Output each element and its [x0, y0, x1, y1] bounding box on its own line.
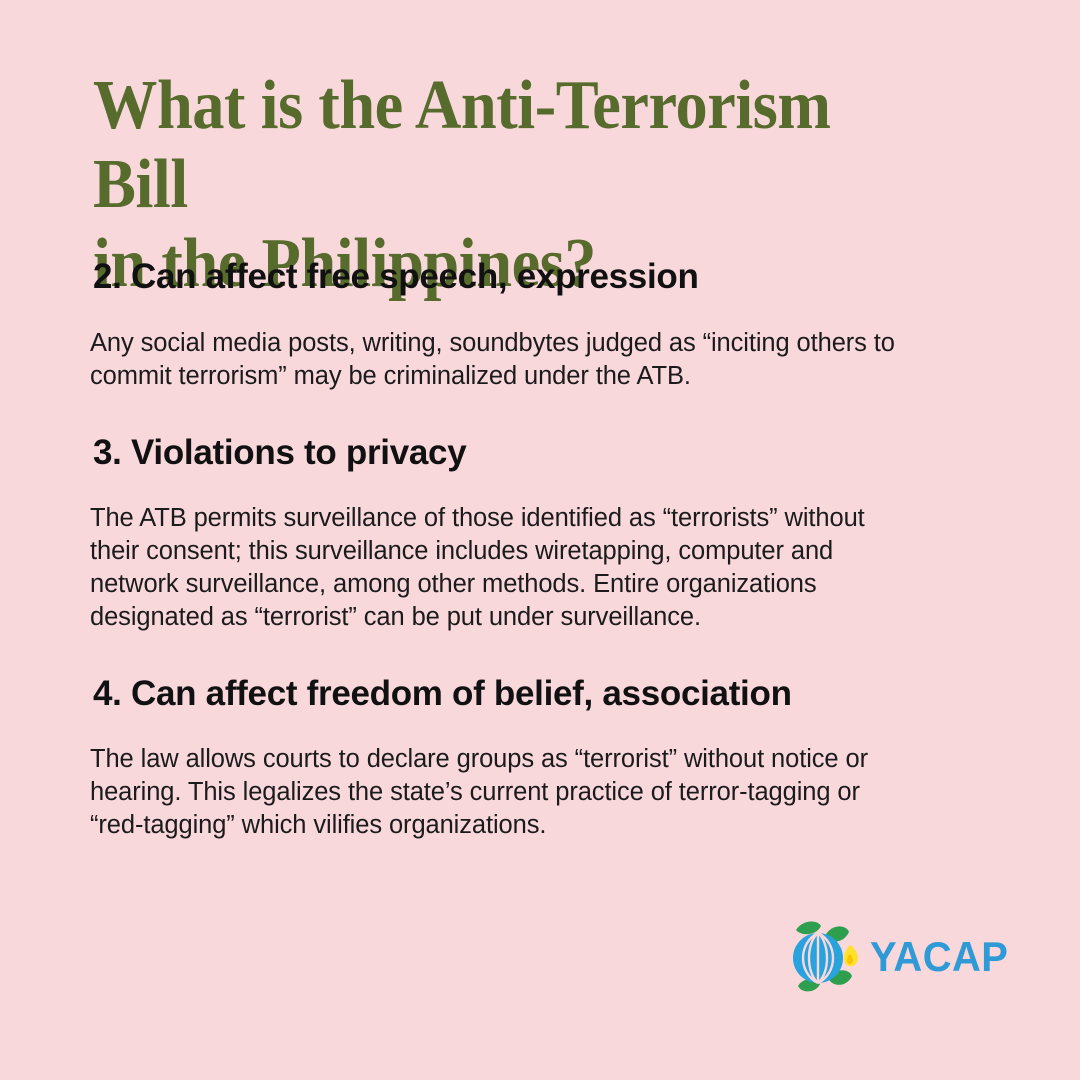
yacap-logo: YACAP [786, 916, 966, 998]
yacap-wordmark: YACAP [870, 936, 1008, 978]
section-4: 4. Can affect freedom of belief, associa… [0, 672, 1080, 842]
sections-container: 2. Can affect free speech, expression An… [0, 255, 1080, 842]
section-4-body: The law allows courts to declare groups … [0, 743, 1080, 842]
section-2-heading: 2. Can affect free speech, expression [0, 255, 1080, 299]
section-2-body: Any social media posts, writing, soundby… [0, 327, 1080, 393]
infographic-poster: What is the Anti-Terrorism Bill in the P… [0, 0, 1080, 1080]
section-3-heading: 3. Violations to privacy [0, 431, 1080, 475]
section-4-heading: 4. Can affect freedom of belief, associa… [0, 672, 1080, 716]
globe-leaves-icon [786, 916, 872, 998]
section-2: 2. Can affect free speech, expression An… [0, 255, 1080, 393]
section-3-body: The ATB permits surveillance of those id… [0, 502, 1080, 634]
section-3: 3. Violations to privacy The ATB permits… [0, 431, 1080, 634]
